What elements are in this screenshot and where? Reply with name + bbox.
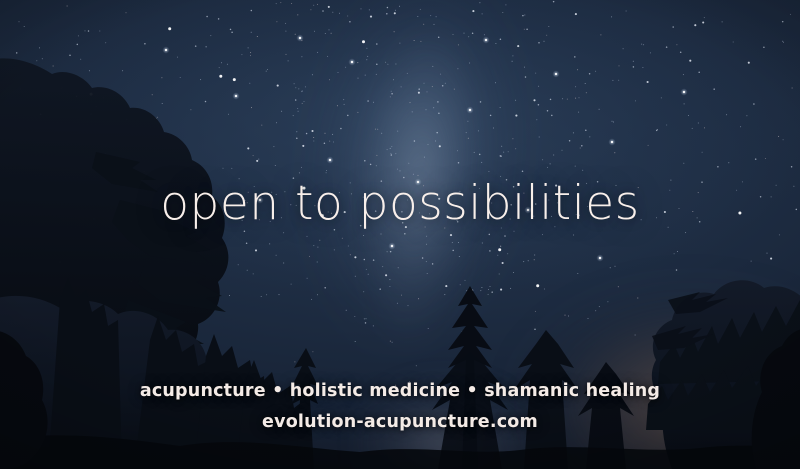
services-tagline: acupuncture • holistic medicine • shaman… — [0, 381, 800, 401]
horizon-light-glow — [510, 269, 800, 469]
night-sky-banner: open to possibilities acupuncture • holi… — [0, 0, 800, 469]
headline-text: open to possibilities — [0, 176, 800, 231]
website-url[interactable]: evolution-acupuncture.com — [0, 412, 800, 432]
